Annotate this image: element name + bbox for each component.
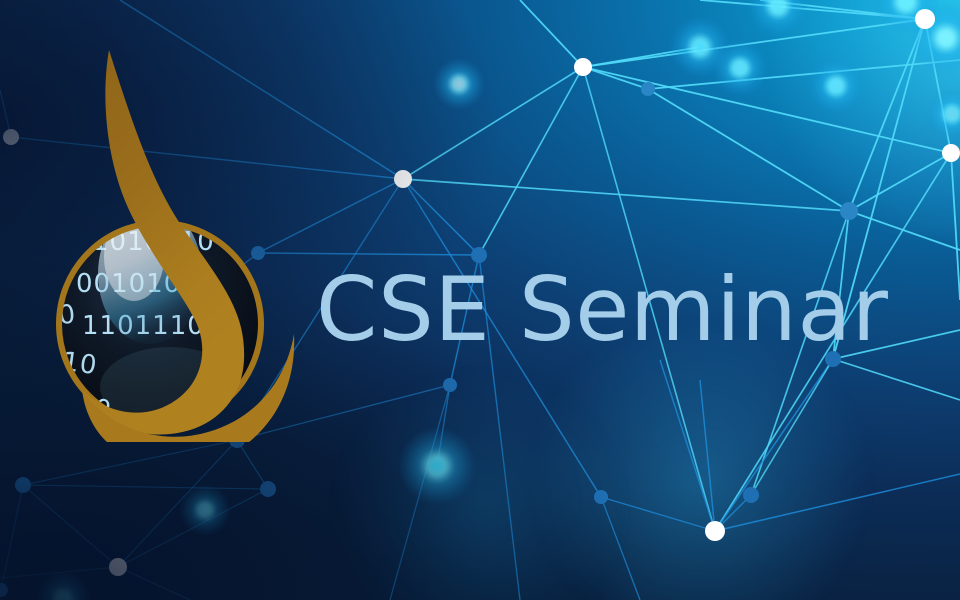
cse-seminar-logo: 11 10 10 010 010. 01010 1010110 00101010… (38, 42, 338, 442)
page-title: CSE Seminar (316, 266, 888, 354)
logo-artwork: 11 10 10 010 010. 01010 1010110 00101010… (38, 42, 338, 442)
cse-seminar-banner: 11 10 10 010 010. 01010 1010110 00101010… (0, 0, 960, 600)
